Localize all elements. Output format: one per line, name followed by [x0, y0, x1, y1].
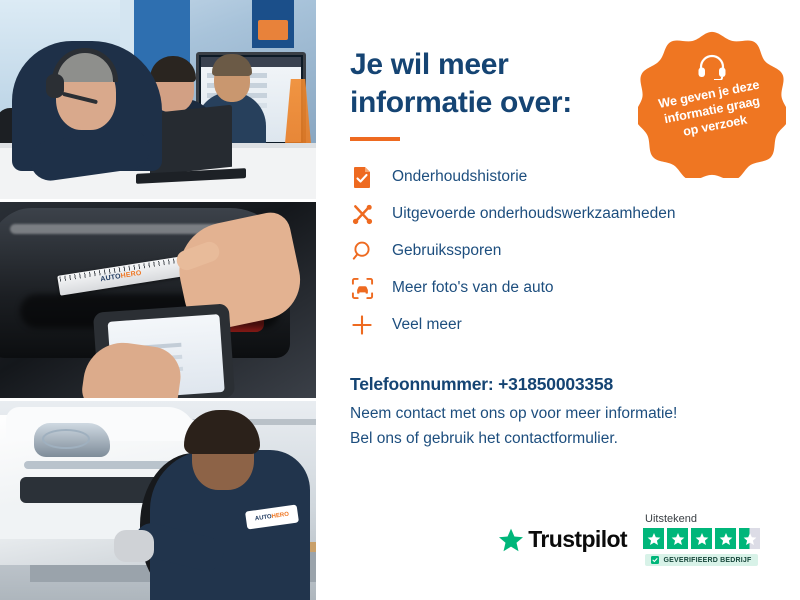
photo-column: AUTOHERO AUTOHERO: [0, 0, 316, 600]
star-half-5: [739, 528, 760, 549]
feature-label: Meer foto's van de auto: [392, 279, 554, 297]
verified-check-icon: [651, 556, 659, 564]
promo-page: AUTOHERO AUTOHERO: [0, 0, 800, 600]
feature-label: Onderhoudshistorie: [392, 168, 527, 186]
contact-block: Telefoonnummer: +31850003358 Neem contac…: [350, 374, 760, 451]
feature-label: Veel meer: [392, 316, 462, 334]
feature-item-meer-fotos: Meer foto's van de auto: [350, 270, 760, 307]
verified-business-label: GEVERIFIEERD BEDRIJF: [663, 557, 751, 564]
headset-icon: [697, 54, 727, 80]
trustpilot-star-icon: [498, 527, 524, 553]
trustpilot-brand: Trustpilot: [498, 526, 627, 553]
request-info-badge: We geven je deze informatie graag op ver…: [638, 30, 786, 178]
car-inspection-photo: AUTOHERO: [0, 202, 316, 398]
car-scan-icon: [350, 275, 374, 301]
star-filled-3: [691, 528, 712, 549]
wall-poster: [252, 0, 294, 48]
trustpilot-rating-label: Uitstekend: [645, 513, 697, 525]
feature-item-onderhoudswerkzaamheden: Uitgevoerde onderhoudswerkzaamheden: [350, 196, 760, 233]
feature-label: Uitgevoerde onderhoudswerkzaamheden: [392, 205, 676, 223]
tools-icon: [350, 201, 374, 227]
feature-list: Onderhoudshistorie Uitgevoerde onderhoud…: [350, 159, 760, 344]
trustpilot-wordmark: Trustpilot: [528, 526, 627, 553]
patch-text-hero: HERO: [271, 512, 289, 520]
laptop: [150, 105, 232, 176]
trustpilot-rating-block: Uitstekend GEVERIFIEERD BEDRIJF: [643, 513, 760, 566]
phone-number[interactable]: Telefoonnummer: +31850003358: [350, 374, 760, 395]
plus-icon: [350, 312, 374, 338]
contact-line-1: Neem contact met ons op voor meer inform…: [350, 401, 760, 426]
magnifier-icon: [350, 238, 374, 264]
car-headlight: [34, 423, 110, 457]
trustpilot-widget[interactable]: Trustpilot Uitstekend GEVERIFIEERD BED: [498, 513, 760, 566]
star-filled-1: [643, 528, 664, 549]
content-panel: Je wil meer informatie over: Onderhoudsh…: [316, 0, 800, 600]
clipboard-check-icon: [350, 164, 374, 190]
contact-line-2: Bel ons of gebruik het contactformulier.: [350, 426, 760, 451]
trustpilot-stars: [643, 528, 760, 549]
star-filled-2: [667, 528, 688, 549]
work-glove: [114, 530, 154, 562]
star-filled-4: [715, 528, 736, 549]
title-divider: [350, 137, 400, 141]
call-center-agents-photo: [0, 0, 316, 199]
workshop-technician-photo: AUTOHERO: [0, 401, 316, 600]
feature-label: Gebruikssporen: [392, 242, 501, 260]
feature-item-veel-meer: Veel meer: [350, 307, 760, 344]
patch-text-auto: AUTO: [255, 514, 273, 522]
feature-item-gebruikssporen: Gebruikssporen: [350, 233, 760, 270]
page-title: Je wil meer informatie over:: [350, 46, 620, 123]
verified-business-badge: GEVERIFIEERD BEDRIJF: [645, 554, 757, 566]
